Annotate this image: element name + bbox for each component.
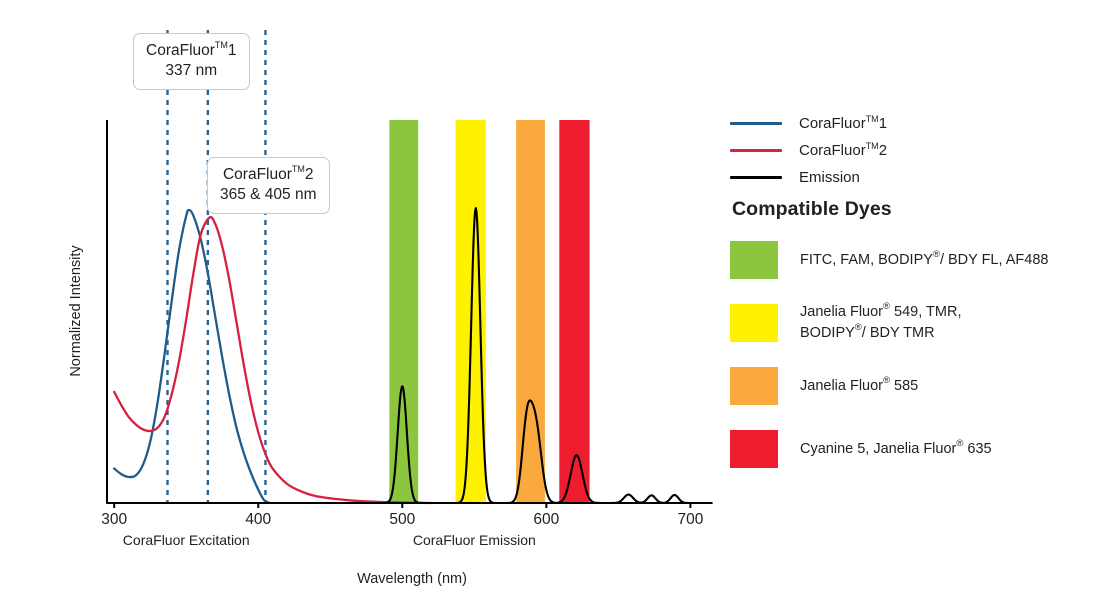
dye-row-0: FITC, FAM, BODIPY®/ BDY FL, AF488 [730,232,1110,288]
callout-2-line2: 365 & 405 nm [220,185,317,205]
x-axis-title: Wavelength (nm) [357,571,467,587]
dye-color-swatch-3 [730,430,778,468]
x-tick-label-500: 500 [389,511,415,528]
dye-row-3: Cyanine 5, Janelia Fluor® 635 [730,421,1110,477]
filter-band-0 [389,120,418,503]
curve-corafluor1 [114,210,270,503]
legend-row-0: CoraFluorTM1 [730,110,1110,137]
dye-row-1: Janelia Fluor® 549, TMR,BODIPY®/ BDY TMR [730,295,1110,351]
x-tick-label-300: 300 [101,511,127,528]
compatible-dyes-list: FITC, FAM, BODIPY®/ BDY FL, AF488Janelia… [730,232,1110,484]
y-axis-title: Normalized Intensity [68,245,84,377]
legend-label-2: Emission [799,169,860,186]
compatible-dyes-title: Compatible Dyes [732,198,892,221]
dye-color-swatch-1 [730,304,778,342]
callout-2-line1: CoraFluorTM2 [220,165,317,185]
dye-label-1: Janelia Fluor® 549, TMR,BODIPY®/ BDY TMR [800,302,961,343]
legend-line-swatch-0 [730,122,782,125]
legend-line-swatch-2 [730,176,782,179]
callout-corafluor2: CoraFluorTM2 365 & 405 nm [207,157,330,214]
dye-label-3: Cyanine 5, Janelia Fluor® 635 [800,439,992,460]
dye-row-2: Janelia Fluor® 585 [730,358,1110,414]
x-tick-label-700: 700 [677,511,703,528]
callout-corafluor1: CoraFluorTM1 337 nm [133,33,250,90]
axis-section-emission: CoraFluor Emission [413,532,536,548]
axis-section-excitation: CoraFluor Excitation [123,532,250,548]
axis-labels: 300400500600700CoraFluor ExcitationCoraF… [68,245,704,587]
chart-canvas: 300400500600700CoraFluor ExcitationCoraF… [0,0,730,612]
series-legend: CoraFluorTM1CoraFluorTM2Emission [730,110,1110,191]
legend-line-swatch-1 [730,149,782,152]
dye-color-swatch-0 [730,241,778,279]
legend-row-1: CoraFluorTM2 [730,137,1110,164]
callout-1-line1: CoraFluorTM1 [146,41,237,61]
excitation-marker-lines [168,30,266,503]
dye-label-0: FITC, FAM, BODIPY®/ BDY FL, AF488 [800,250,1048,271]
x-tick-label-600: 600 [533,511,559,528]
emission-filter-bands [389,120,589,503]
callout-1-line2: 337 nm [146,61,237,81]
dye-color-swatch-2 [730,367,778,405]
legend-label-1: CoraFluorTM2 [799,142,887,159]
x-tick-label-400: 400 [245,511,271,528]
chart-page: 300400500600700CoraFluor ExcitationCoraF… [0,0,1110,612]
dye-label-2: Janelia Fluor® 585 [800,376,918,397]
legend-label-0: CoraFluorTM1 [799,115,887,132]
curve-corafluor2 [114,217,431,503]
spectra-plot: 300400500600700CoraFluor ExcitationCoraF… [0,0,730,612]
filter-band-3 [559,120,589,503]
legend-row-2: Emission [730,164,1110,191]
legend-panel: CoraFluorTM1CoraFluorTM2Emission Compati… [730,0,1110,612]
